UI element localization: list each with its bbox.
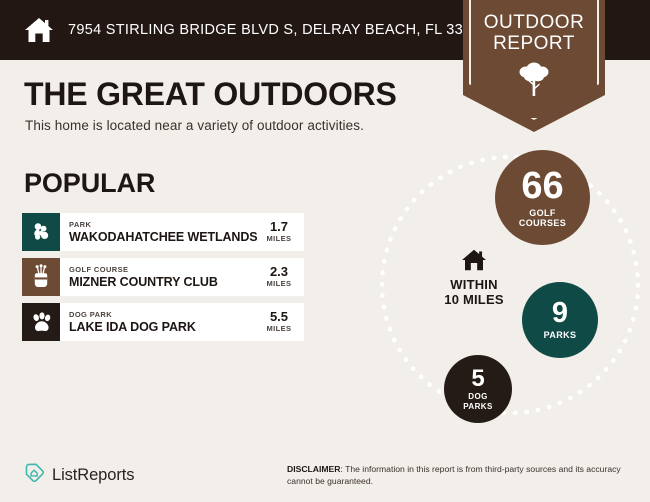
stat-label-golf-courses: GOLF COURSES [519, 208, 566, 229]
list-item-category: DOG PARK [69, 310, 258, 320]
popular-section-title: POPULAR [24, 168, 155, 199]
badge-title-line1: OUTDOOR [463, 12, 605, 33]
list-item-texts: DOG PARK LAKE IDA DOG PARK [60, 303, 258, 341]
list-item-category: PARK [69, 220, 258, 230]
listreports-house-tag-icon [24, 462, 45, 488]
golf-bag-icon [22, 258, 60, 296]
list-item-name: MIZNER COUNTRY CLUB [69, 275, 258, 290]
stat-circle-golf-courses[interactable]: 66 GOLF COURSES [495, 150, 590, 245]
list-item-distance: 1.7 MILES [258, 213, 304, 251]
list-item-distance-unit: MILES [267, 324, 292, 334]
within-text-line2: 10 MILES [428, 292, 520, 307]
list-item-distance-value: 2.3 [270, 265, 288, 279]
list-item-distance-value: 1.7 [270, 220, 288, 234]
stat-label-golf-line2: COURSES [519, 218, 566, 229]
listreports-logo-text: ListReports [52, 466, 134, 485]
list-item-texts: PARK WAKODAHATCHEE WETLANDS [60, 213, 258, 251]
tree-icon [463, 58, 605, 98]
header-address: 7954 STIRLING BRIDGE BLVD S, DELRAY BEAC… [68, 22, 488, 38]
stat-circle-parks[interactable]: 9 PARKS [522, 282, 598, 358]
home-icon [428, 248, 520, 272]
list-item-distance-unit: MILES [267, 234, 292, 244]
list-item[interactable]: DOG PARK LAKE IDA DOG PARK 5.5 MILES [22, 303, 304, 341]
stat-label-golf-line1: GOLF [519, 208, 566, 219]
disclaimer-label: DISCLAIMER [287, 464, 340, 474]
list-item-distance-unit: MILES [267, 279, 292, 289]
listreports-logo[interactable]: ListReports [24, 462, 134, 488]
badge-title: OUTDOOR REPORT [463, 12, 605, 54]
list-item-distance: 2.3 MILES [258, 258, 304, 296]
badge-title-line2: REPORT [463, 33, 605, 54]
within-text-line1: WITHIN [428, 277, 520, 292]
within-radius-label: WITHIN 10 MILES [428, 248, 520, 307]
list-item-distance: 5.5 MILES [258, 303, 304, 341]
stat-value-dog-parks: 5 [471, 367, 484, 391]
home-icon [22, 14, 56, 46]
stat-label-parks: PARKS [544, 330, 577, 341]
list-item[interactable]: GOLF COURSE MIZNER COUNTRY CLUB 2.3 MILE… [22, 258, 304, 296]
stat-label-dog-line1: DOG [463, 392, 492, 402]
page-title: THE GREAT OUTDOORS [24, 76, 397, 113]
park-tree-icon [22, 213, 60, 251]
stat-label-dog-line2: PARKS [463, 402, 492, 412]
list-item[interactable]: PARK WAKODAHATCHEE WETLANDS 1.7 MILES [22, 213, 304, 251]
paw-print-icon [22, 303, 60, 341]
amenities-bubble-chart: 66 GOLF COURSES 9 PARKS 5 DOG PARKS [370, 140, 650, 430]
list-item-name: WAKODAHATCHEE WETLANDS [69, 230, 258, 245]
stat-value-parks: 9 [552, 299, 568, 328]
list-item-category: GOLF COURSE [69, 265, 258, 275]
list-item-name: LAKE IDA DOG PARK [69, 320, 258, 335]
list-item-distance-value: 5.5 [270, 310, 288, 324]
stat-label-dog-parks: DOG PARKS [463, 392, 492, 411]
disclaimer: DISCLAIMER: The information in this repo… [287, 464, 635, 487]
list-item-texts: GOLF COURSE MIZNER COUNTRY CLUB [60, 258, 258, 296]
page-subtitle: This home is located near a variety of o… [25, 118, 364, 133]
stat-circle-dog-parks[interactable]: 5 DOG PARKS [444, 355, 512, 423]
popular-list: PARK WAKODAHATCHEE WETLANDS 1.7 MILES [22, 213, 304, 348]
stat-value-golf-courses: 66 [521, 167, 563, 205]
outdoor-report-page: 7954 STIRLING BRIDGE BLVD S, DELRAY BEAC… [0, 0, 650, 502]
